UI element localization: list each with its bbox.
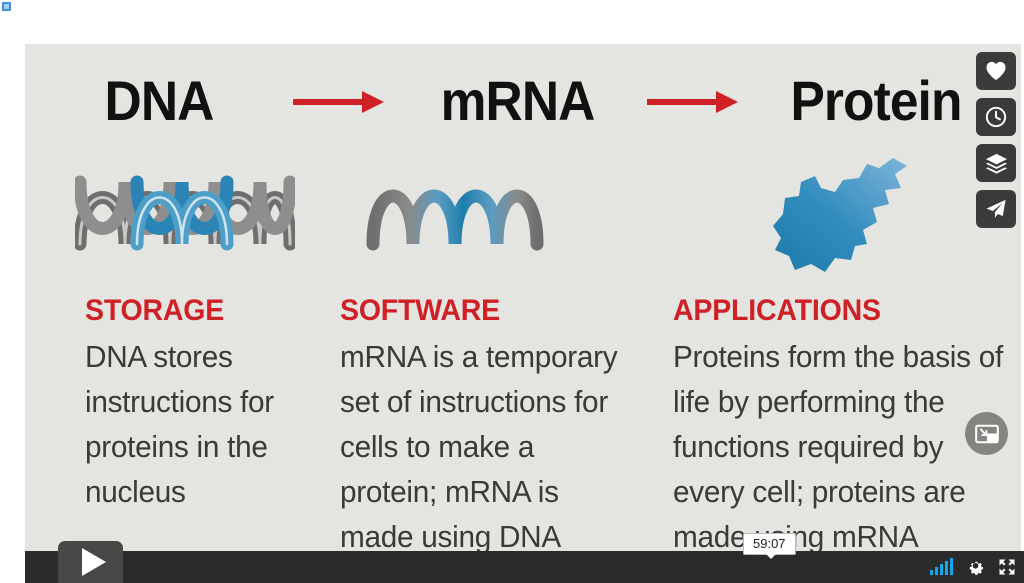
quality-bar-4 (945, 561, 948, 575)
page-favicon (2, 2, 11, 11)
protein-blob-icon (755, 152, 935, 282)
dna-double-helix-icon (75, 152, 295, 262)
side-action-bar (976, 52, 1016, 228)
clock-icon (985, 106, 1007, 128)
column-storage: STORAGE DNA stores instructions for prot… (85, 294, 330, 514)
quality-bar-3 (940, 564, 943, 575)
play-button[interactable] (58, 541, 123, 583)
picture-in-picture-button[interactable] (965, 412, 1008, 455)
flow-step-mrna: mRNA (398, 73, 636, 129)
video-stage[interactable]: DNA mRNA Protein (25, 44, 1024, 583)
arrow-right-icon-1 (293, 91, 388, 111)
add-to-collection-button[interactable] (976, 144, 1016, 182)
heart-icon (985, 61, 1007, 81)
column-body: DNA stores instructions for proteins in … (85, 334, 320, 514)
flow-step-protein: Protein (753, 73, 1000, 129)
fullscreen-icon[interactable] (998, 558, 1016, 576)
video-player[interactable]: DNA mRNA Protein (25, 44, 1024, 583)
arrow-right-icon-2 (647, 91, 742, 111)
share-button[interactable] (976, 190, 1016, 228)
gear-icon[interactable] (966, 558, 985, 577)
column-heading: APPLICATIONS (673, 294, 1015, 328)
watch-later-button[interactable] (976, 98, 1016, 136)
column-body: Proteins form the basis of life by perfo… (673, 334, 1019, 559)
right-controls (930, 555, 1016, 579)
player-controls-bar (25, 551, 1024, 583)
description-columns: STORAGE DNA stores instructions for prot… (25, 294, 1024, 583)
flow-step-dna: DNA (36, 73, 283, 129)
picture-in-picture-icon (975, 423, 999, 445)
stack-icon (985, 153, 1008, 174)
quality-bar-2 (935, 567, 938, 575)
quality-button[interactable] (930, 559, 953, 575)
like-button[interactable] (976, 52, 1016, 90)
play-icon (82, 548, 106, 576)
illustration-row (25, 152, 1010, 292)
column-body: mRNA is a temporary set of instructions … (340, 334, 628, 559)
column-software: SOFTWARE mRNA is a temporary set of inst… (340, 294, 640, 559)
column-heading: STORAGE (85, 294, 318, 328)
quality-bar-1 (930, 570, 933, 575)
time-tooltip: 59:07 (743, 533, 796, 555)
mrna-single-strand-icon (365, 152, 545, 262)
column-heading: SOFTWARE (340, 294, 625, 328)
flow-headline-row: DNA mRNA Protein (25, 58, 1010, 144)
quality-bar-5 (950, 558, 953, 575)
paper-plane-icon (985, 198, 1007, 220)
